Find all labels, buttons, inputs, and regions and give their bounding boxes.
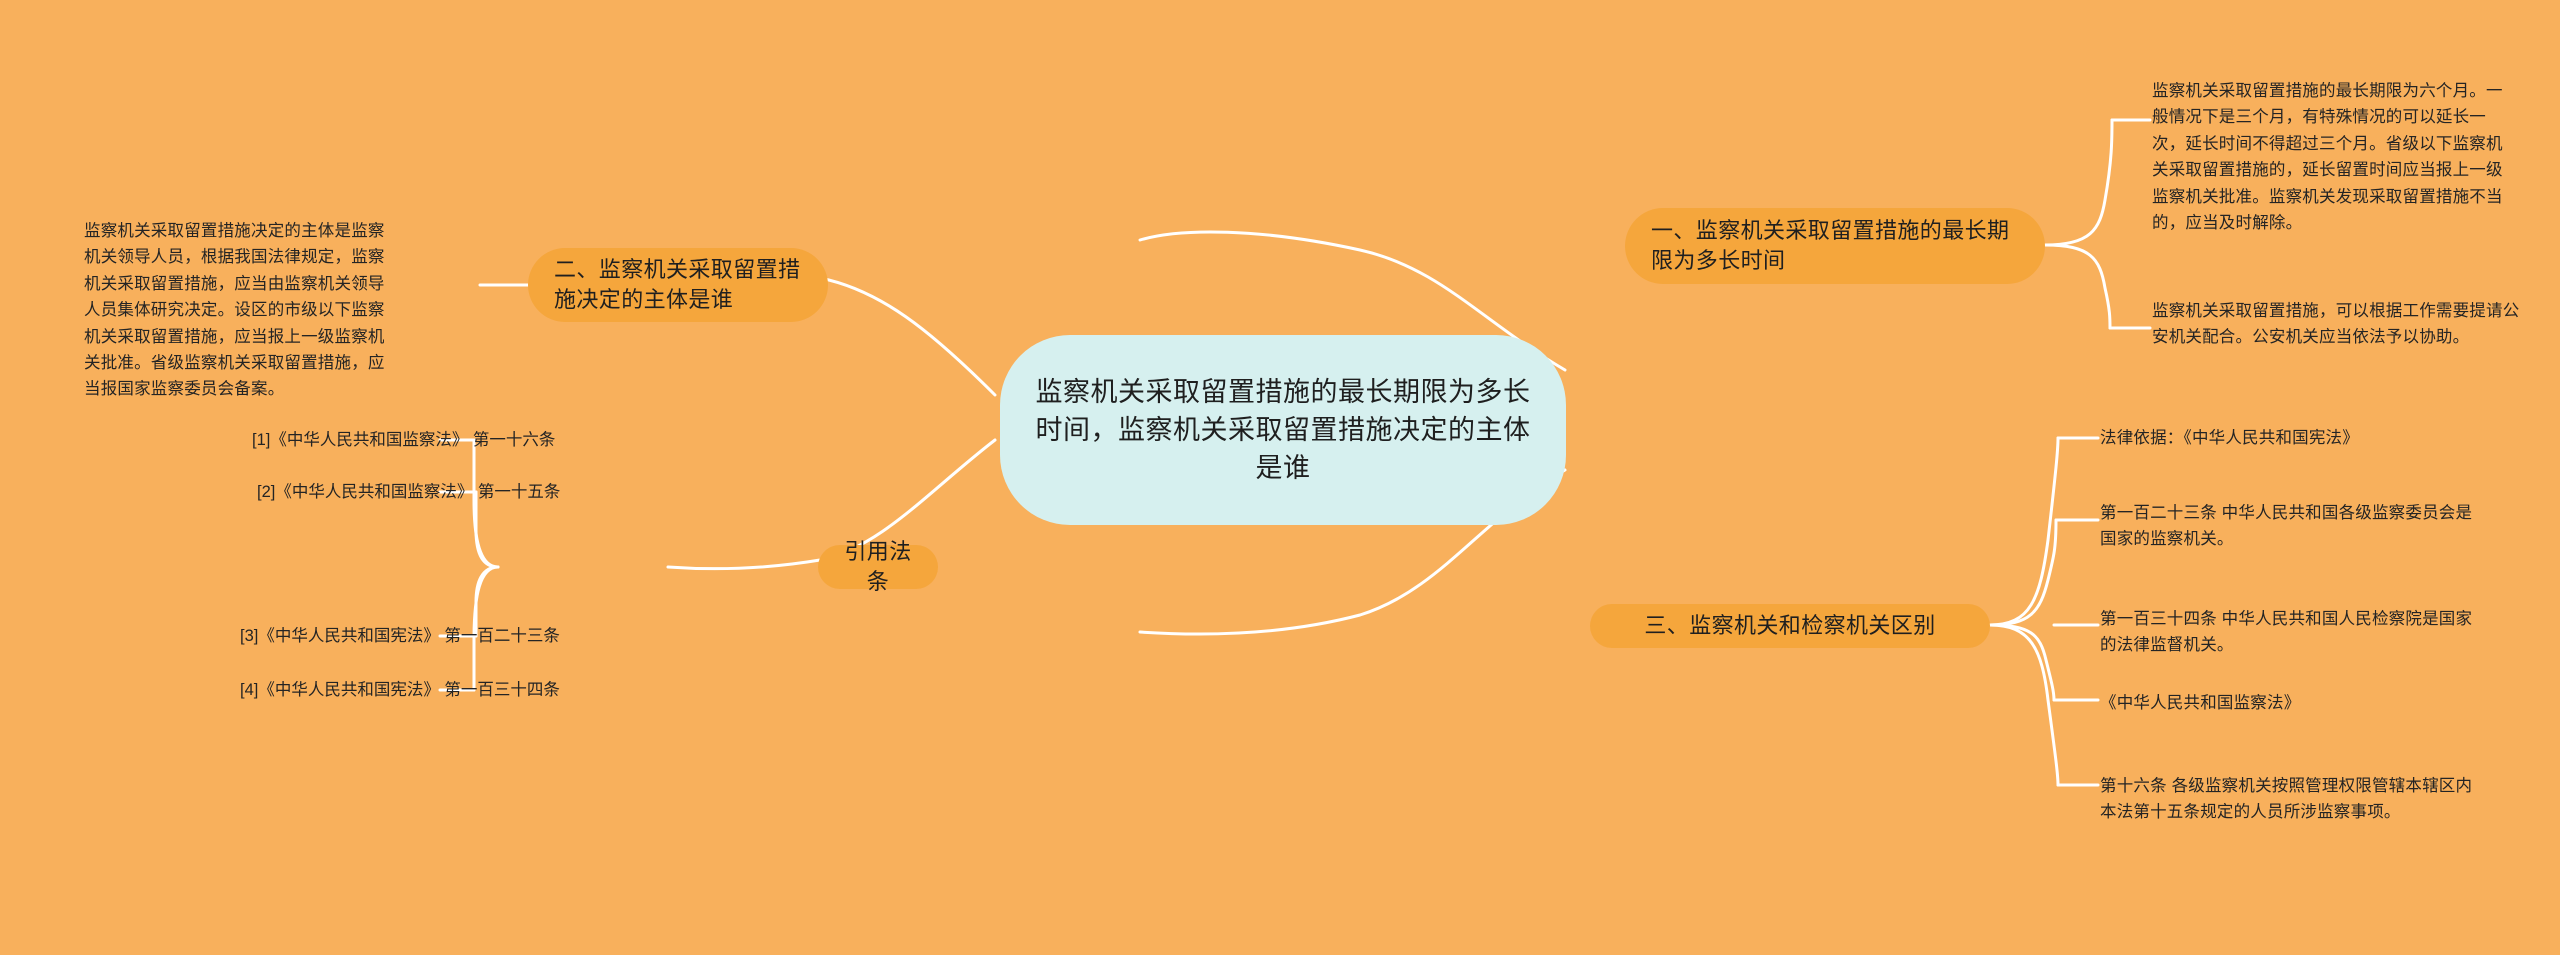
mindmap-canvas: 监察机关采取留置措施的最长期限为多长时间，监察机关采取留置措施决定的主体是谁 一… — [0, 0, 2560, 955]
branch-node-one-label: 一、监察机关采取留置措施的最长期限为多长时间 — [1651, 216, 2019, 277]
branch-one-note-2-label: 监察机关采取留置措施，可以根据工作需要提请公安机关配合。公安机关应当依法予以协助… — [2152, 302, 2519, 346]
citation-item-3-label: [3]《中华人民共和国宪法》 第一百二十三条 — [240, 627, 560, 645]
link-branch-three-spine-up-2 — [1990, 520, 2056, 625]
link-branch-three-spine-down-2 — [1990, 625, 2058, 785]
link-branch-one-spine-up — [2045, 120, 2112, 245]
branch-three-note-1: 法律依据：《中华人民共和国宪法》 — [2100, 425, 2480, 451]
branch-three-note-2-label: 第一百二十三条 中华人民共和国各级监察委员会是国家的监察机关。 — [2100, 504, 2472, 548]
citation-item-4-label: [4]《中华人民共和国宪法》 第一百三十四条 — [240, 681, 560, 699]
branch-node-citations-label: 引用法条 — [844, 537, 912, 598]
branch-three-note-5-label: 第十六条 各级监察机关按照管理权限管辖本辖区内本法第十五条规定的人员所涉监察事项… — [2100, 777, 2472, 821]
link-branch-three-spine-down-1 — [1990, 625, 2054, 700]
link-branch-one-spine-down — [2045, 245, 2110, 328]
branch-node-two[interactable]: 二、监察机关采取留置措施决定的主体是谁 — [528, 248, 828, 322]
citation-item-2-label: [2]《中华人民共和国监察法》 第一十五条 — [257, 483, 560, 501]
branch-two-note-1: 监察机关采取留置措施决定的主体是监察机关领导人员，根据我国法律规定，监察机关采取… — [84, 218, 388, 403]
citation-item-3: [3]《中华人民共和国宪法》 第一百二十三条 — [240, 624, 480, 649]
branch-node-two-label: 二、监察机关采取留置措施决定的主体是谁 — [554, 255, 802, 316]
citation-item-1: [1]《中华人民共和国监察法》 第一十六条 — [252, 428, 482, 453]
branch-three-note-3-label: 第一百三十四条 中华人民共和国人民检察院是国家的法律监督机关。 — [2100, 610, 2472, 654]
citation-item-4: [4]《中华人民共和国宪法》 第一百三十四条 — [240, 678, 480, 703]
branch-three-note-5: 第十六条 各级监察机关按照管理权限管辖本辖区内本法第十五条规定的人员所涉监察事项… — [2100, 773, 2480, 826]
branch-one-note-2: 监察机关采取留置措施，可以根据工作需要提请公安机关配合。公安机关应当依法予以协助… — [2152, 298, 2524, 351]
branch-node-citations[interactable]: 引用法条 — [818, 545, 938, 589]
branch-one-note-1: 监察机关采取留置措施的最长期限为六个月。一般情况下是三个月，有特殊情况的可以延长… — [2152, 78, 2510, 236]
branch-three-note-1-label: 法律依据：《中华人民共和国宪法》 — [2100, 429, 2359, 447]
branch-node-three[interactable]: 三、监察机关和检察机关区别 — [1590, 604, 1990, 648]
branch-three-note-4-label: 《中华人民共和国监察法》 — [2100, 694, 2300, 712]
citation-item-2: [2]《中华人民共和国监察法》 第一十五条 — [257, 480, 487, 505]
branch-three-note-4: 《中华人民共和国监察法》 — [2100, 690, 2480, 716]
branch-three-note-3: 第一百三十四条 中华人民共和国人民检察院是国家的法律监督机关。 — [2100, 606, 2480, 659]
branch-two-note-1-label: 监察机关采取留置措施决定的主体是监察机关领导人员，根据我国法律规定，监察机关采取… — [84, 222, 385, 398]
root-node[interactable]: 监察机关采取留置措施的最长期限为多长时间，监察机关采取留置措施决定的主体是谁 — [1000, 335, 1566, 525]
root-node-label: 监察机关采取留置措施的最长期限为多长时间，监察机关采取留置措施决定的主体是谁 — [1026, 373, 1540, 488]
branch-node-three-label: 三、监察机关和检察机关区别 — [1644, 611, 1935, 641]
branch-node-one[interactable]: 一、监察机关采取留置措施的最长期限为多长时间 — [1625, 208, 2045, 284]
link-branch-three-spine-up-1 — [1990, 438, 2058, 625]
citation-item-1-label: [1]《中华人民共和国监察法》 第一十六条 — [252, 431, 555, 449]
branch-one-note-1-label: 监察机关采取留置措施的最长期限为六个月。一般情况下是三个月，有特殊情况的可以延长… — [2152, 82, 2503, 232]
branch-three-note-2: 第一百二十三条 中华人民共和国各级监察委员会是国家的监察机关。 — [2100, 500, 2480, 553]
